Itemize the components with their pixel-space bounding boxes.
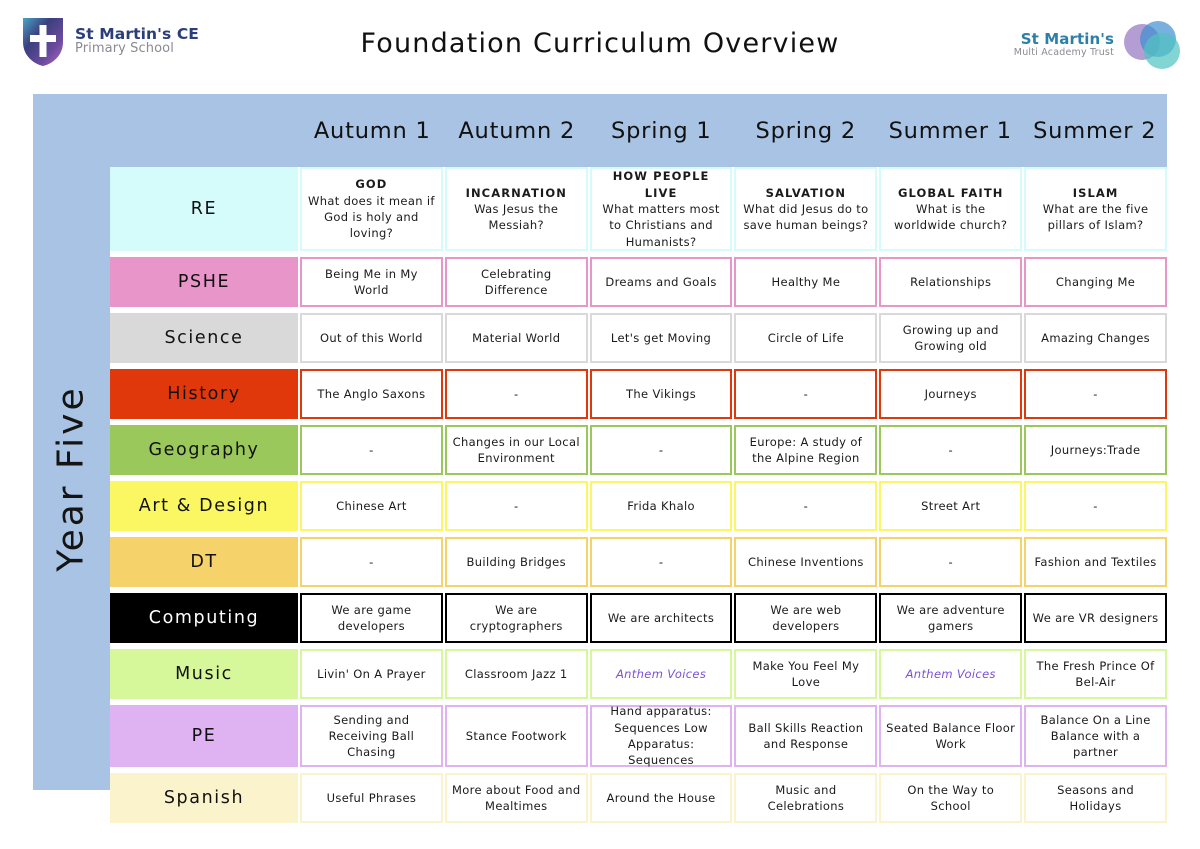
- topic-cell: Out of this World: [300, 313, 443, 363]
- topic-heading: INCARNATION: [451, 185, 582, 201]
- topic-text: Amazing Changes: [1041, 330, 1150, 346]
- topic-text: Relationships: [910, 274, 991, 290]
- topic-text: Stance Footwork: [466, 728, 567, 744]
- topic-text: Ball Skills Reaction and Response: [740, 720, 871, 753]
- subject-cells: Being Me in My WorldCelebrating Differen…: [298, 257, 1167, 307]
- topic-text: Celebrating Difference: [451, 266, 582, 299]
- topic-text: Seasons and Holidays: [1030, 782, 1161, 815]
- topic-text: Healthy Me: [772, 274, 841, 290]
- topic-text: Useful Phrases: [327, 790, 417, 806]
- topic-cell: Building Bridges: [445, 537, 588, 587]
- subject-cells: The Anglo Saxons-The Vikings-Journeys-: [298, 369, 1167, 419]
- topic-text: Growing up and Growing old: [885, 322, 1016, 355]
- topic-text: We are adventure gamers: [885, 602, 1016, 635]
- topic-cell: Changes in our Local Environment: [445, 425, 588, 475]
- topic-cell: Being Me in My World: [300, 257, 443, 307]
- topic-cell: SALVATIONWhat did Jesus do to save human…: [734, 167, 877, 251]
- year-label: Year Five: [33, 167, 110, 790]
- topic-cell: -: [445, 481, 588, 531]
- topic-text: We are web developers: [740, 602, 871, 635]
- topic-text: Hand apparatus: Sequences Low Apparatus:…: [596, 703, 727, 768]
- topic-cell: We are web developers: [734, 593, 877, 643]
- topic-text: -: [1093, 498, 1098, 514]
- topic-cell: Around the House: [590, 773, 733, 823]
- topic-text: We are architects: [608, 610, 714, 626]
- term-header-1: Autumn 1: [300, 94, 445, 167]
- terms-header-row: Autumn 1Autumn 2Spring 1Spring 2Summer 1…: [300, 94, 1167, 167]
- subject-row: HistoryThe Anglo Saxons-The Vikings-Jour…: [110, 369, 1167, 419]
- subject-label-art-design: Art & Design: [110, 481, 298, 531]
- topic-text: More about Food and Mealtimes: [451, 782, 582, 815]
- topic-text: Anthem Voices: [616, 666, 706, 682]
- subject-cells: Livin' On A PrayerClassroom Jazz 1Anthem…: [298, 649, 1167, 699]
- topic-cell: Hand apparatus: Sequences Low Apparatus:…: [590, 705, 733, 767]
- topic-cell: Music and Celebrations: [734, 773, 877, 823]
- topic-cell: -: [734, 481, 877, 531]
- subject-cells: Chinese Art-Frida Khalo-Street Art-: [298, 481, 1167, 531]
- topic-text: Journeys: [925, 386, 977, 402]
- topic-text: -: [948, 554, 953, 570]
- subject-row: DT-Building Bridges-Chinese Inventions-F…: [110, 537, 1167, 587]
- topic-text: What does it mean if God is holy and lov…: [308, 194, 435, 241]
- curriculum-overview-page: St Martin's CE Primary School Foundation…: [0, 0, 1200, 849]
- topic-cell: The Fresh Prince Of Bel-Air: [1024, 649, 1167, 699]
- topic-text: -: [514, 498, 519, 514]
- topic-cell: Sending and Receiving Ball Chasing: [300, 705, 443, 767]
- topic-cell: Balance On a Line Balance with a partner: [1024, 705, 1167, 767]
- topic-text: Dreams and Goals: [605, 274, 716, 290]
- subject-row: MusicLivin' On A PrayerClassroom Jazz 1A…: [110, 649, 1167, 699]
- topic-text: Sending and Receiving Ball Chasing: [306, 712, 437, 761]
- topic-text: On the Way to School: [885, 782, 1016, 815]
- topic-text: -: [659, 442, 664, 458]
- topic-cell: Journeys:Trade: [1024, 425, 1167, 475]
- topic-cell: Journeys: [879, 369, 1022, 419]
- topic-cell: Relationships: [879, 257, 1022, 307]
- subject-row: PSHEBeing Me in My WorldCelebrating Diff…: [110, 257, 1167, 307]
- topic-cell: Circle of Life: [734, 313, 877, 363]
- topic-text: We are game developers: [306, 602, 437, 635]
- topic-heading: GLOBAL FAITH: [885, 185, 1016, 201]
- subject-label-pe: PE: [110, 705, 298, 767]
- topic-text: Balance On a Line Balance with a partner: [1030, 712, 1161, 761]
- topic-cell: Anthem Voices: [879, 649, 1022, 699]
- topic-text: Changes in our Local Environment: [451, 434, 582, 467]
- subject-cells: Useful PhrasesMore about Food and Mealti…: [298, 773, 1167, 823]
- topic-cell: We are VR designers: [1024, 593, 1167, 643]
- curriculum-grid: REGODWhat does it mean if God is holy an…: [110, 167, 1167, 823]
- subject-cells: Sending and Receiving Ball ChasingStance…: [298, 705, 1167, 767]
- trust-logo: St Martin's Multi Academy Trust: [1014, 20, 1182, 70]
- term-header-5: Summer 1: [878, 94, 1023, 167]
- topic-text: Frida Khalo: [627, 498, 695, 514]
- topic-text: Music and Celebrations: [740, 782, 871, 815]
- topic-text: Out of this World: [320, 330, 423, 346]
- year-label-text: Year Five: [51, 385, 92, 571]
- topic-cell: Ball Skills Reaction and Response: [734, 705, 877, 767]
- topic-cell: We are cryptographers: [445, 593, 588, 643]
- topic-cell: -: [1024, 369, 1167, 419]
- subject-row: Art & DesignChinese Art-Frida Khalo-Stre…: [110, 481, 1167, 531]
- topic-text: Anthem Voices: [906, 666, 996, 682]
- topic-cell: -: [445, 369, 588, 419]
- subject-row: REGODWhat does it mean if God is holy an…: [110, 167, 1167, 251]
- trust-name-line2: Multi Academy Trust: [1014, 48, 1114, 59]
- topic-cell: -: [590, 425, 733, 475]
- topic-cell: Amazing Changes: [1024, 313, 1167, 363]
- subject-row: ComputingWe are game developersWe are cr…: [110, 593, 1167, 643]
- topic-cell: GLOBAL FAITHWhat is the worldwide church…: [879, 167, 1022, 251]
- subject-row: SpanishUseful PhrasesMore about Food and…: [110, 773, 1167, 823]
- topic-text: Chinese Inventions: [748, 554, 864, 570]
- subject-label-computing: Computing: [110, 593, 298, 643]
- topic-cell: -: [1024, 481, 1167, 531]
- topic-text: Street Art: [921, 498, 980, 514]
- topic-text: The Anglo Saxons: [317, 386, 425, 402]
- term-header-3: Spring 1: [589, 94, 734, 167]
- topic-text: We are VR designers: [1033, 610, 1159, 626]
- topic-text: What matters most to Christians and Huma…: [602, 202, 719, 249]
- topic-cell: We are game developers: [300, 593, 443, 643]
- topic-cell: Classroom Jazz 1: [445, 649, 588, 699]
- topic-cell: -: [734, 369, 877, 419]
- topic-text: What did Jesus do to save human beings?: [743, 202, 868, 232]
- topic-cell: Europe: A study of the Alpine Region: [734, 425, 877, 475]
- topic-cell: -: [300, 425, 443, 475]
- topic-cell: Seated Balance Floor Work: [879, 705, 1022, 767]
- term-header-6: Summer 2: [1023, 94, 1168, 167]
- trust-circles-icon: [1120, 20, 1182, 70]
- topic-text: Changing Me: [1056, 274, 1135, 290]
- topic-text: Europe: A study of the Alpine Region: [740, 434, 871, 467]
- topic-text: The Fresh Prince Of Bel-Air: [1030, 658, 1161, 691]
- topic-text: -: [659, 554, 664, 570]
- subject-label-music: Music: [110, 649, 298, 699]
- topic-cell: The Vikings: [590, 369, 733, 419]
- topic-cell: ISLAMWhat are the five pillars of Islam?: [1024, 167, 1167, 251]
- topic-text: Journeys:Trade: [1051, 442, 1141, 458]
- topic-cell: We are architects: [590, 593, 733, 643]
- topic-cell: Street Art: [879, 481, 1022, 531]
- topic-text: Classroom Jazz 1: [465, 666, 568, 682]
- topic-text: Let's get Moving: [611, 330, 711, 346]
- topic-cell: Let's get Moving: [590, 313, 733, 363]
- topic-text: -: [948, 442, 953, 458]
- topic-cell: Livin' On A Prayer: [300, 649, 443, 699]
- topic-text: Make You Feel My Love: [740, 658, 871, 691]
- topic-cell: Healthy Me: [734, 257, 877, 307]
- topic-cell: INCARNATIONWas Jesus the Messiah?: [445, 167, 588, 251]
- topic-cell: Changing Me: [1024, 257, 1167, 307]
- topic-cell: Stance Footwork: [445, 705, 588, 767]
- subject-row: ScienceOut of this WorldMaterial WorldLe…: [110, 313, 1167, 363]
- subject-label-geography: Geography: [110, 425, 298, 475]
- term-header-4: Spring 2: [734, 94, 879, 167]
- topic-cell: -: [879, 537, 1022, 587]
- topic-cell: Chinese Inventions: [734, 537, 877, 587]
- subject-label-dt: DT: [110, 537, 298, 587]
- topic-cell: Frida Khalo: [590, 481, 733, 531]
- topic-cell: Material World: [445, 313, 588, 363]
- topic-text: Around the House: [607, 790, 716, 806]
- subject-row: Geography-Changes in our Local Environme…: [110, 425, 1167, 475]
- topic-cell: Useful Phrases: [300, 773, 443, 823]
- topic-text: Being Me in My World: [306, 266, 437, 299]
- topic-cell: -: [590, 537, 733, 587]
- topic-text: Fashion and Textiles: [1035, 554, 1157, 570]
- topic-cell: We are adventure gamers: [879, 593, 1022, 643]
- topic-cell: The Anglo Saxons: [300, 369, 443, 419]
- term-header-2: Autumn 2: [445, 94, 590, 167]
- topic-text: The Vikings: [626, 386, 696, 402]
- topic-text: -: [369, 442, 374, 458]
- topic-cell: Chinese Art: [300, 481, 443, 531]
- topic-heading: HOW PEOPLE LIVE: [596, 168, 727, 201]
- subject-label-spanish: Spanish: [110, 773, 298, 823]
- subject-cells: -Changes in our Local Environment-Europe…: [298, 425, 1167, 475]
- topic-text: Chinese Art: [336, 498, 407, 514]
- topic-cell: Dreams and Goals: [590, 257, 733, 307]
- topic-cell: Seasons and Holidays: [1024, 773, 1167, 823]
- subject-cells: -Building Bridges-Chinese Inventions-Fas…: [298, 537, 1167, 587]
- subject-label-re: RE: [110, 167, 298, 251]
- topic-cell: Anthem Voices: [590, 649, 733, 699]
- topic-heading: ISLAM: [1030, 185, 1161, 201]
- topic-cell: On the Way to School: [879, 773, 1022, 823]
- topic-text: Building Bridges: [467, 554, 566, 570]
- subject-cells: GODWhat does it mean if God is holy and …: [298, 167, 1167, 251]
- topic-cell: Fashion and Textiles: [1024, 537, 1167, 587]
- topic-text: What is the worldwide church?: [894, 202, 1007, 232]
- topic-text: -: [804, 498, 809, 514]
- page-header: St Martin's CE Primary School Foundation…: [0, 0, 1200, 94]
- topic-text: Was Jesus the Messiah?: [474, 202, 558, 232]
- topic-heading: GOD: [306, 176, 437, 192]
- topic-cell: HOW PEOPLE LIVEWhat matters most to Chri…: [590, 167, 733, 251]
- subject-row: PESending and Receiving Ball ChasingStan…: [110, 705, 1167, 767]
- topic-cell: Make You Feel My Love: [734, 649, 877, 699]
- trust-name-line1: St Martin's: [1014, 31, 1114, 48]
- subject-label-history: History: [110, 369, 298, 419]
- topic-cell: -: [300, 537, 443, 587]
- topic-text: -: [369, 554, 374, 570]
- topic-text: Circle of Life: [768, 330, 844, 346]
- subject-cells: We are game developersWe are cryptograph…: [298, 593, 1167, 643]
- subject-label-science: Science: [110, 313, 298, 363]
- topic-cell: -: [879, 425, 1022, 475]
- topic-text: Livin' On A Prayer: [317, 666, 426, 682]
- topic-cell: Celebrating Difference: [445, 257, 588, 307]
- subject-label-pshe: PSHE: [110, 257, 298, 307]
- topic-heading: SALVATION: [740, 185, 871, 201]
- topic-cell: More about Food and Mealtimes: [445, 773, 588, 823]
- topic-text: -: [514, 386, 519, 402]
- topic-text: -: [1093, 386, 1098, 402]
- topic-text: What are the five pillars of Islam?: [1043, 202, 1149, 232]
- topic-text: -: [804, 386, 809, 402]
- subject-cells: Out of this WorldMaterial WorldLet's get…: [298, 313, 1167, 363]
- topic-text: Material World: [472, 330, 560, 346]
- topic-cell: GODWhat does it mean if God is holy and …: [300, 167, 443, 251]
- topic-text: We are cryptographers: [451, 602, 582, 635]
- topic-text: Seated Balance Floor Work: [885, 720, 1016, 753]
- topic-cell: Growing up and Growing old: [879, 313, 1022, 363]
